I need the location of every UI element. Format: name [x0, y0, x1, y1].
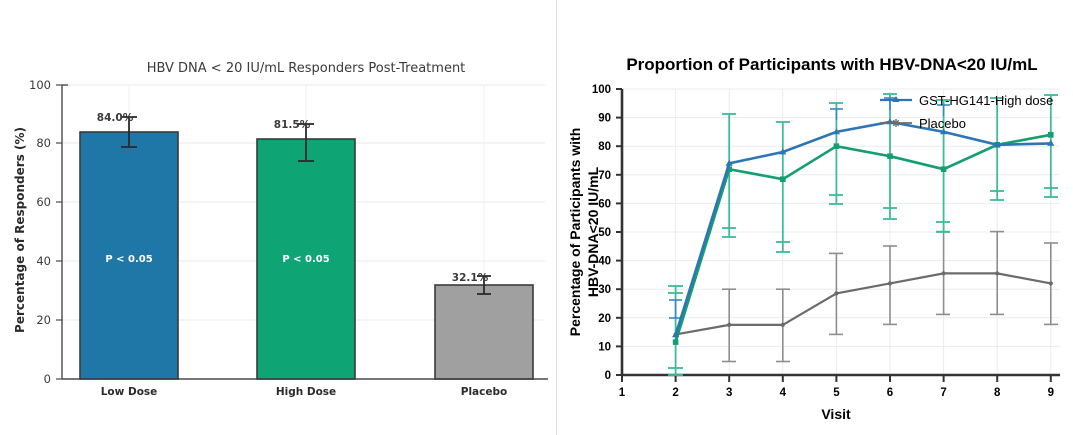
line-y-tick-90: 90 [598, 113, 611, 125]
bar-y-tick-20: 20 [36, 313, 51, 327]
line-chart-svg: Proportion of Participants with HBV-DNA<… [560, 0, 1073, 435]
line-x-tick-5: 5 [833, 387, 840, 399]
line-chart-title: Proportion of Participants with HBV-DNA<… [626, 55, 1037, 74]
line-x-tick-1: 1 [619, 387, 626, 399]
line-x-tick-6: 6 [887, 387, 893, 399]
bar-chart-svg: HBV DNA < 20 IU/mL Responders Post-Treat… [0, 0, 560, 435]
line-y-tick-100: 100 [592, 84, 611, 96]
bar-pvalue-low-dose: P < 0.05 [105, 254, 152, 265]
bar-value-label-placebo: 32.1% [452, 272, 489, 284]
line-y-tick-10: 10 [598, 341, 611, 353]
line-y-tick-60: 60 [598, 198, 611, 210]
figure-root: HBV DNA < 20 IU/mL Responders Post-Treat… [0, 0, 1073, 435]
legend-label-placebo: Placebo [919, 116, 966, 131]
line-y-tick-70: 70 [598, 170, 611, 182]
bar-category-label-placebo: Placebo [461, 386, 507, 398]
bar-chart-title: HBV DNA < 20 IU/mL Responders Post-Treat… [147, 61, 466, 76]
line-chart-y-axis-label: Percentage of Participants with HBV-DNA<… [567, 128, 601, 337]
line-x-tick-3: 3 [726, 387, 732, 399]
bar-chart-y-ticks [56, 85, 62, 379]
line-y-tick-0: 0 [605, 370, 611, 382]
line-chart-panel: Proportion of Participants with HBV-DNA<… [560, 0, 1073, 435]
line-chart-y-axis-label-line1: Percentage of Participants with [567, 128, 583, 337]
line-chart-gridlines-h [622, 89, 1060, 346]
legend-item-high-dose[interactable]: GST-HG141-High dose [880, 93, 1053, 108]
legend-item-placebo[interactable]: Placebo [880, 116, 966, 131]
line-x-tick-7: 7 [940, 387, 946, 399]
line-y-tick-30: 30 [598, 284, 611, 296]
star-icon [892, 119, 900, 127]
line-chart-x-axis-label: Visit [821, 406, 851, 422]
placebo-line [676, 273, 1051, 334]
line-x-tick-8: 8 [994, 387, 1001, 399]
bar-y-tick-80: 80 [36, 136, 51, 150]
bar-chart-y-axis-label: Percentage of Responders (%) [13, 127, 27, 333]
bar-y-tick-40: 40 [36, 254, 51, 268]
high-dose-error-bars [668, 94, 1058, 375]
line-y-tick-40: 40 [598, 256, 611, 268]
bar-y-tick-0: 0 [44, 372, 51, 386]
line-x-tick-2: 2 [672, 387, 678, 399]
placebo-markers [674, 271, 1053, 336]
line-y-tick-80: 80 [598, 141, 611, 153]
bar-y-tick-60: 60 [36, 195, 51, 209]
blue-series-error-bars [669, 98, 950, 318]
bar-chart-panel: HBV DNA < 20 IU/mL Responders Post-Treat… [0, 0, 560, 435]
line-x-tick-4: 4 [780, 387, 787, 399]
line-y-tick-50: 50 [598, 227, 611, 239]
bar-value-label-high-dose: 81.5% [274, 119, 311, 131]
bar-pvalue-high-dose: P < 0.05 [282, 254, 329, 265]
line-x-tick-9: 9 [1048, 387, 1054, 399]
legend-label-high-dose: GST-HG141-High dose [919, 93, 1053, 108]
bar-y-tick-100: 100 [29, 78, 51, 92]
bar-placebo[interactable] [435, 285, 533, 379]
bar-value-label-low-dose: 84.0% [97, 112, 134, 124]
second-series-line [676, 135, 1051, 342]
bar-category-label-low-dose: Low Dose [101, 386, 158, 398]
bar-category-label-high-dose: High Dose [276, 386, 336, 398]
line-y-tick-20: 20 [598, 313, 611, 325]
